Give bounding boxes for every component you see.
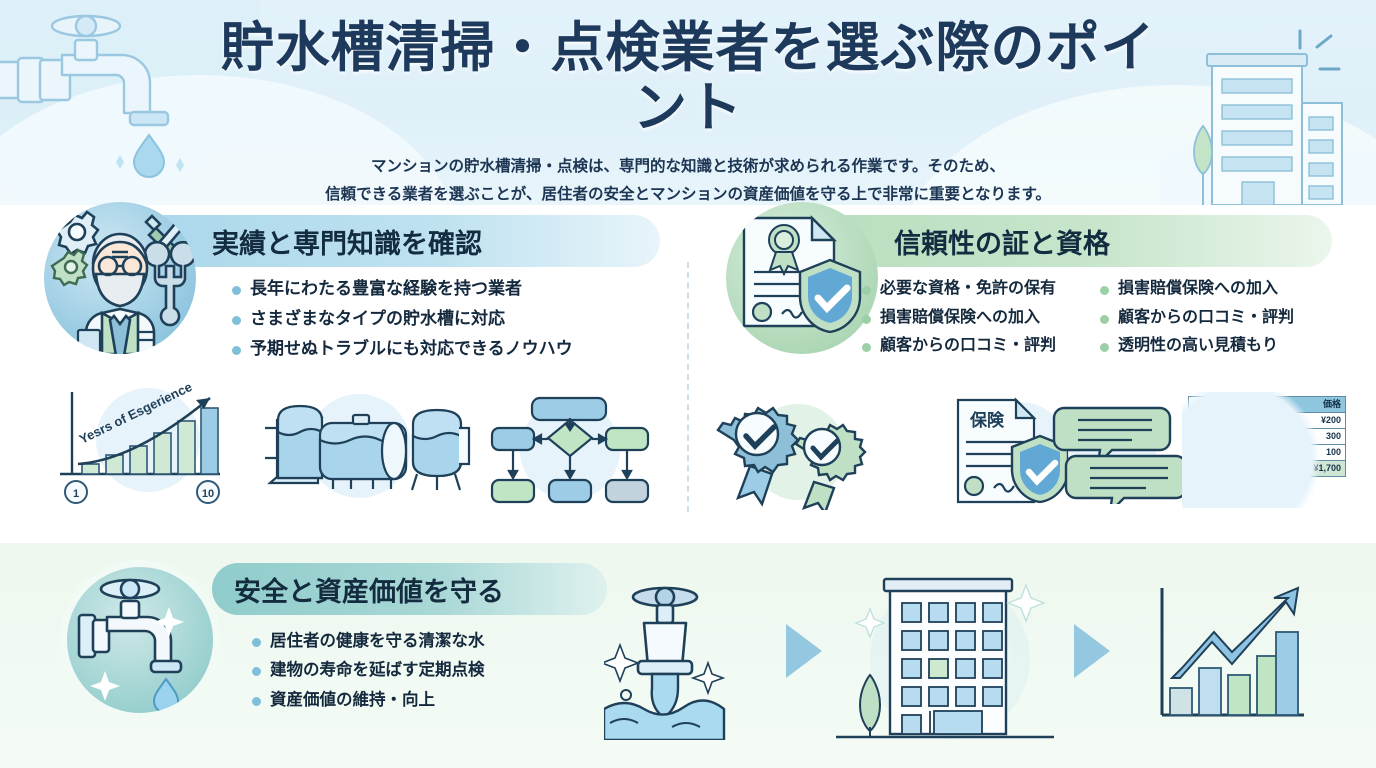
- clean-water-faucet-illustration: [604, 575, 774, 740]
- chart-end-label: 10: [202, 488, 214, 500]
- bullet-dot-icon: [1100, 343, 1109, 352]
- bullet-dot-icon: [1100, 315, 1109, 324]
- water-tanks-illustration: [245, 388, 473, 508]
- section-heading-label: 信頼性の証と資格: [894, 222, 1110, 261]
- list-item: 長年にわたる豊富な経験を持つ業者: [232, 278, 672, 301]
- bullet-text: 居住者の健康を守る清潔な水: [270, 630, 485, 652]
- sparkling-building-illustration: [830, 565, 1060, 743]
- apartment-building-icon: [1150, 0, 1376, 205]
- bullet-dot-icon: [232, 346, 241, 355]
- section-heading-label: 安全と資産価値を守る: [234, 570, 504, 609]
- bullet-dot-icon: [862, 315, 871, 324]
- bullet-text: さまざまなタイプの貯水槽に対応: [250, 308, 505, 331]
- bullet-text: 資産価値の維持・向上: [270, 689, 435, 711]
- list-item: 顧客からの口コミ・評判: [862, 335, 1102, 357]
- section-divider: [687, 262, 689, 512]
- price-estimate-table: 価格 料金 ¥200 価格金額 300 見積り 100 合計 ¥1,700: [1188, 396, 1346, 504]
- certificate-with-shield-icon: [726, 202, 878, 354]
- bullet-text: 顧客からの口コミ・評判: [1118, 307, 1294, 329]
- bullet-text: 透明性の高い見積もり: [1118, 335, 1278, 357]
- list-item: 損害賠償保険への加入: [1100, 278, 1348, 300]
- bullet-list-safety: 居住者の健康を守る清潔な水 建物の寿命を延ばす定期点検 資産価値の維持・向上: [252, 630, 582, 718]
- bullet-text: 建物の寿命を延ばす定期点検: [270, 659, 485, 681]
- bullet-list-trust-col2: 損害賠償保険への加入 顧客からの口コミ・評判 透明性の高い見積もり: [1100, 278, 1348, 364]
- sparkling-faucet-icon: [60, 560, 220, 720]
- bullet-text: 必要な資格・免許の保有: [880, 278, 1056, 300]
- subtitle-line-2: 信頼できる業者を選ぶことが、居住者の安全とマンションの資産価値を守る上で非常に重…: [200, 181, 1176, 205]
- years-of-experience-bar-chart: Yesrs of Esgerience 1 10: [40, 382, 245, 510]
- list-item: さまざまなタイプの貯水槽に対応: [232, 308, 672, 331]
- bullet-text: 長年にわたる豊富な経験を持つ業者: [250, 278, 522, 301]
- list-item: 損害賠償保険への加入: [862, 307, 1102, 329]
- bullet-dot-icon: [862, 343, 871, 352]
- flowchart-illustration: [470, 386, 670, 510]
- bullet-text: 顧客からの口コミ・評判: [880, 335, 1056, 357]
- bullet-text: 損害賠償保険への加入: [1118, 278, 1278, 300]
- list-item: 顧客からの口コミ・評判: [1100, 307, 1348, 329]
- table-bg-circle: [1182, 392, 1352, 508]
- faucet-dripping-icon: [0, 0, 215, 205]
- list-item: 透明性の高い見積もり: [1100, 335, 1348, 357]
- page-title: 貯水槽清掃・点検業者を選ぶ際のポイント: [200, 18, 1176, 139]
- bullet-text: 予期せぬトラブルにも対応できるノウハウ: [250, 338, 573, 361]
- chart-start-label: 1: [73, 488, 79, 500]
- bullet-dot-icon: [252, 638, 261, 647]
- list-item: 居住者の健康を守る清潔な水: [252, 630, 582, 652]
- arrow-right-1: [780, 620, 826, 682]
- engineer-with-gears-and-tools-icon: [44, 202, 196, 354]
- section-header-safety: 安全と資産価値を守る: [212, 563, 607, 615]
- bullet-dot-icon: [232, 286, 241, 295]
- bullet-dot-icon: [252, 697, 261, 706]
- list-item: 予期せぬトラブルにも対応できるノウハウ: [232, 338, 672, 361]
- list-item: 建物の寿命を延ばす定期点検: [252, 659, 582, 681]
- bullet-dot-icon: [1100, 286, 1109, 295]
- section-heading-label: 実績と専門知識を確認: [212, 222, 482, 261]
- bullet-list-trust-col1: 必要な資格・免許の保有 損害賠償保険への加入 顧客からの口コミ・評判: [862, 278, 1102, 364]
- award-ribbons-illustration: [710, 394, 930, 510]
- hero-banner: 貯水槽清掃・点検業者を選ぶ際のポイント マンションの貯水槽清掃・点検は、専門的な…: [0, 0, 1376, 205]
- infographic-page: 貯水槽清掃・点検業者を選ぶ際のポイント マンションの貯水槽清掃・点検は、専門的な…: [0, 0, 1376, 768]
- bullet-dot-icon: [862, 286, 871, 295]
- document-label: 保険: [969, 410, 1005, 430]
- bullet-dot-icon: [232, 316, 241, 325]
- bullet-text: 損害賠償保険への加入: [880, 307, 1040, 329]
- list-item: 資産価値の維持・向上: [252, 689, 582, 711]
- list-item: 必要な資格・免許の保有: [862, 278, 1102, 300]
- review-speech-bubbles-illustration: [1040, 404, 1190, 504]
- arrow-right-2: [1068, 620, 1114, 682]
- bullet-list-experience: 長年にわたる豊富な経験を持つ業者 さまざまなタイプの貯水槽に対応 予期せぬトラブ…: [232, 278, 672, 368]
- subtitle-line-1: マンションの貯水槽清掃・点検は、専門的な知識と技術が求められる作業です。そのため…: [200, 153, 1176, 181]
- bullet-dot-icon: [252, 667, 261, 676]
- growth-chart-illustration: [1118, 580, 1353, 735]
- page-subtitle: マンションの貯水槽清掃・点検は、専門的な知識と技術が求められる作業です。そのため…: [200, 153, 1176, 205]
